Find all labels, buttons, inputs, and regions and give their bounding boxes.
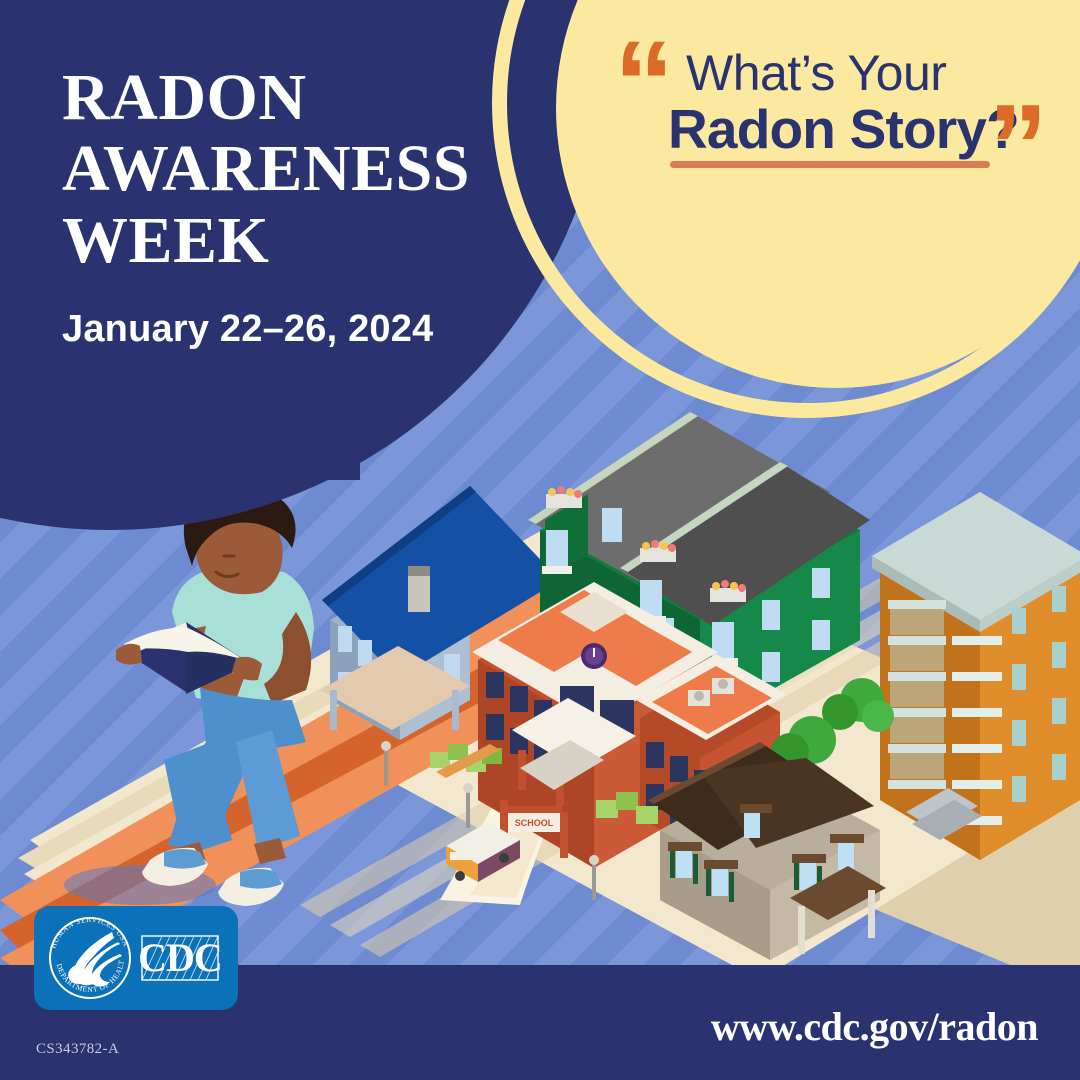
- website-url[interactable]: www.cdc.gov/radon: [711, 1003, 1038, 1050]
- quote-underline: [670, 161, 990, 168]
- headline-block: RADON AWARENESS WEEK January 22–26, 2024: [62, 62, 532, 351]
- title-line-2: AWARENESS: [62, 132, 470, 205]
- cdc-hhs-logo: HUMAN SERVICES USA DEPARTMENT OF HEALTH …: [34, 906, 238, 1010]
- poster-canvas: SCHOOL: [0, 0, 1080, 1080]
- quote-block: “ What’s Your Radon Story? ”: [612, 48, 1052, 168]
- title-line-3: WEEK: [62, 204, 269, 277]
- cdc-wordmark: CDC: [138, 935, 222, 980]
- svg-text:CDC: CDC: [138, 935, 222, 980]
- open-quote-icon: “: [614, 40, 668, 126]
- event-dateline: January 22–26, 2024: [62, 308, 532, 351]
- hhs-seal-icon: HUMAN SERVICES USA DEPARTMENT OF HEALTH …: [34, 906, 131, 998]
- catalog-number: CS343782-A: [36, 1041, 119, 1058]
- title-line-1: RADON: [62, 61, 307, 134]
- svg-text:SCHOOL: SCHOOL: [515, 818, 554, 828]
- page-title: RADON AWARENESS WEEK: [62, 62, 532, 276]
- close-quote-icon: ”: [988, 104, 1042, 190]
